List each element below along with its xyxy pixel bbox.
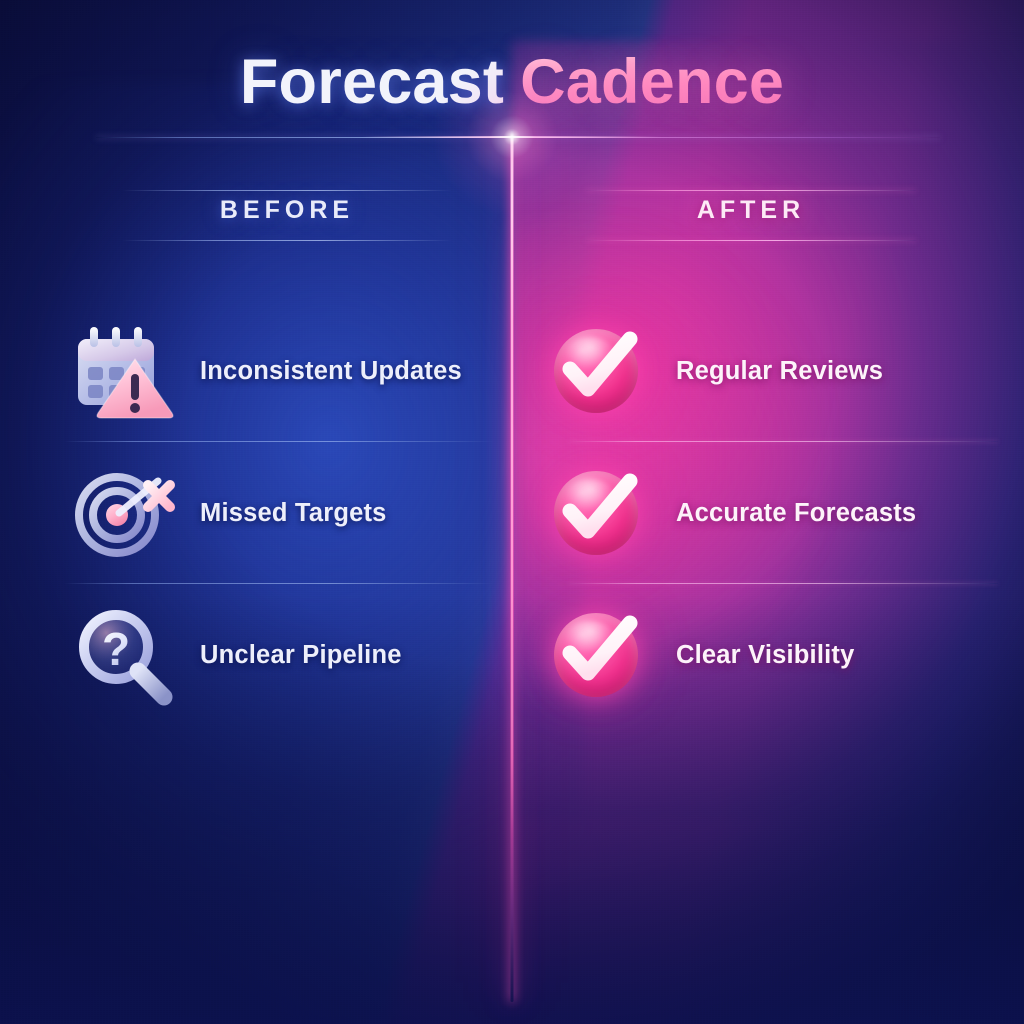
page-title-accent: Cadence: [520, 47, 784, 117]
list-item[interactable]: Accurate Forecasts: [548, 442, 988, 584]
list-item-label: Inconsistent Updates: [200, 357, 462, 386]
check-circle-icon: [548, 321, 654, 421]
svg-text:?: ?: [102, 623, 130, 675]
check-circle-icon: [548, 463, 654, 563]
list-item[interactable]: Inconsistent Updates: [72, 300, 512, 442]
list-item[interactable]: ? Unclear Pipeline: [72, 584, 512, 726]
page-title-primary: Forecast: [240, 47, 504, 117]
list-item-label: Unclear Pipeline: [200, 641, 402, 670]
before-column: Inconsistent Updates: [72, 300, 512, 726]
list-item[interactable]: Clear Visibility: [548, 584, 988, 726]
page-title: ForecastCadence: [0, 48, 1024, 117]
before-heading: BEFORE: [122, 196, 452, 225]
target-miss-icon: [72, 463, 178, 563]
list-item-label: Missed Targets: [200, 499, 387, 528]
list-item-label: Regular Reviews: [676, 357, 883, 386]
before-heading-rule-top: [122, 190, 452, 191]
list-item[interactable]: Regular Reviews: [548, 300, 988, 442]
after-heading-rule-top: [586, 190, 916, 191]
divider-flare-beam: [362, 136, 662, 138]
check-circle-icon: [548, 605, 654, 705]
list-item-label: Accurate Forecasts: [676, 499, 916, 528]
magnifier-question-icon: ?: [72, 605, 178, 705]
calendar-warning-icon: [72, 321, 178, 421]
before-heading-rule-bottom: [122, 240, 452, 241]
list-item[interactable]: Missed Targets: [72, 442, 512, 584]
list-item-label: Clear Visibility: [676, 641, 854, 670]
after-heading: AFTER: [586, 196, 916, 225]
after-heading-rule-bottom: [586, 240, 916, 241]
after-column: Regular Reviews Accurate Forecasts Clear…: [548, 300, 988, 726]
comparison-infographic: ForecastCadence BEFORE AFTER: [0, 0, 1024, 1024]
